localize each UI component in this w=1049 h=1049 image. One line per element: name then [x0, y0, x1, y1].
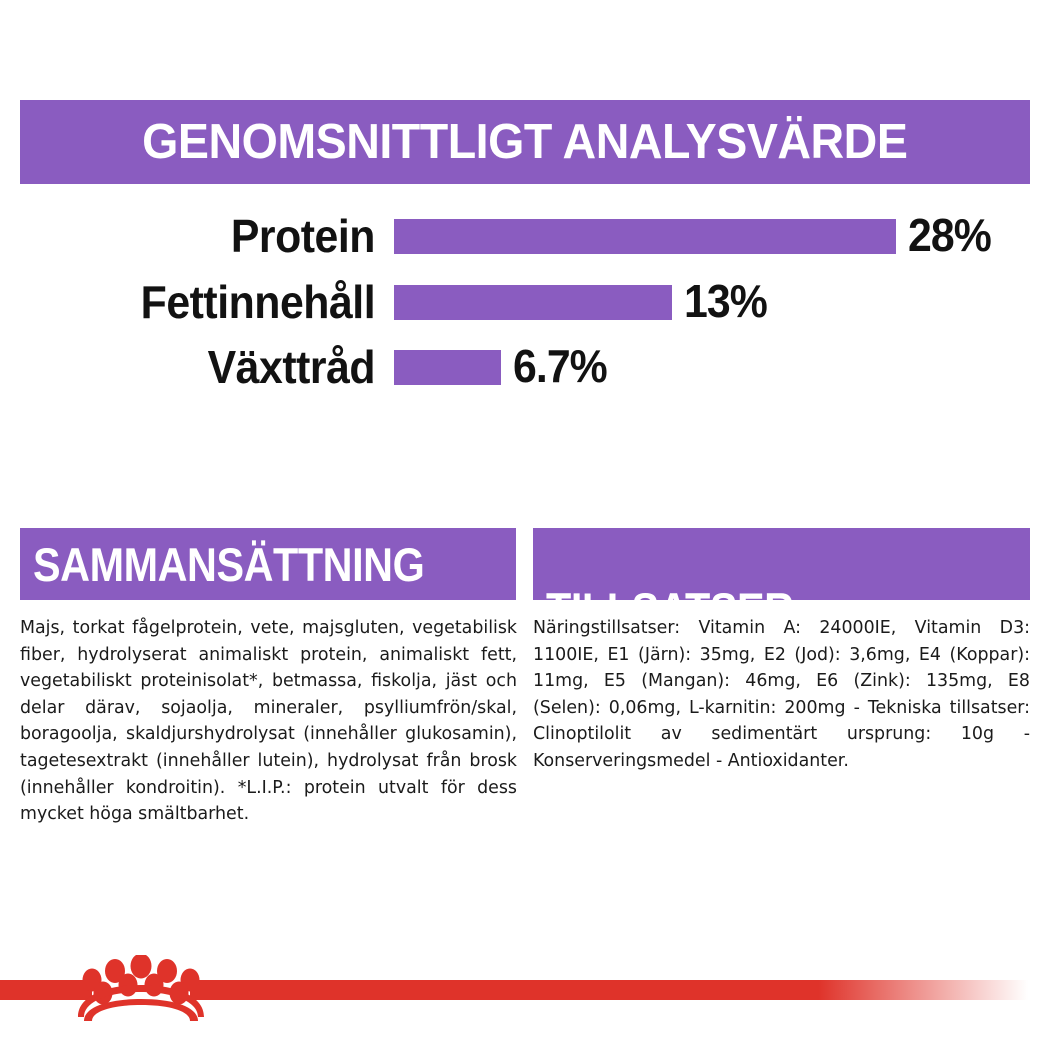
analysis-heading: GENOMSNITTLIGT ANALYSVÄRDE [142, 114, 907, 170]
bar-protein [394, 219, 896, 254]
composition-heading: SAMMANSÄTTNING [33, 537, 424, 592]
bar-label-fettinnehall: Fettinnehåll [141, 276, 375, 328]
bar-value-protein: 28% [908, 210, 991, 262]
bar-vaxttrad [394, 350, 501, 385]
royal-canin-crown-icon [70, 955, 212, 1021]
average-analysis-bar-chart: Protein 28% Fettinnehåll 13% Växttråd 6.… [0, 210, 1049, 405]
chart-row: Protein 28% [0, 210, 1049, 262]
additives-header-band: TILLSATSER (per kg) [533, 528, 1030, 600]
additives-body-text: Näringstillsatser: Vitamin A: 24000IE, V… [533, 615, 1030, 775]
bar-value-fettinnehall: 13% [684, 276, 767, 328]
bar-value-vaxttrad: 6.7% [513, 341, 607, 393]
composition-header-band: SAMMANSÄTTNING [20, 528, 516, 600]
bar-label-vaxttrad: Växttråd [208, 341, 375, 393]
bar-label-protein: Protein [231, 210, 375, 262]
bar-fettinnehall [394, 285, 672, 320]
chart-row: Växttråd 6.7% [0, 341, 1049, 393]
chart-row: Fettinnehåll 13% [0, 276, 1049, 328]
composition-body-text: Majs, torkat fågelprotein, vete, majsglu… [20, 615, 517, 828]
analysis-header-band: GENOMSNITTLIGT ANALYSVÄRDE [20, 100, 1030, 184]
